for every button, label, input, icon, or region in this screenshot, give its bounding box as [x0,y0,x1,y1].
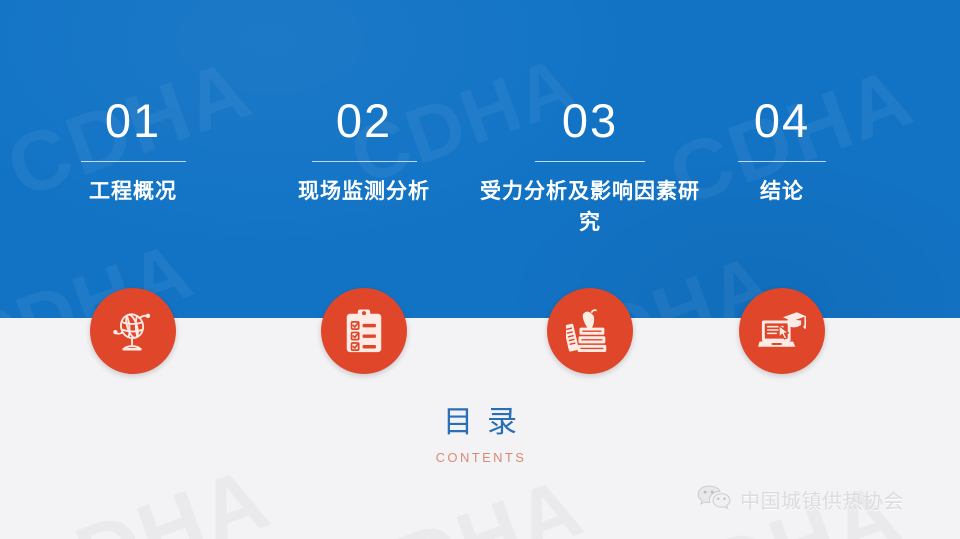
section-item-03[interactable]: 03 受力分析及影响因素研究 [480,95,700,238]
section-icon-circle-02[interactable] [321,288,407,374]
section-title: 受力分析及影响因素研究 [480,176,700,238]
section-item-04[interactable]: 04 结论 [706,95,858,207]
clipboard-checklist-icon [342,308,386,354]
footer-organization-name: 中国城镇供热协会 [740,488,904,514]
watermark-cdha-bottom-center: CDHA [327,458,596,539]
section-divider [81,161,186,162]
globe-stand-icon [110,308,156,354]
section-number: 04 [706,95,858,147]
section-icon-circle-03[interactable] [547,288,633,374]
section-item-02[interactable]: 02 现场监测分析 [278,95,450,207]
contents-block: 目录 CONTENTS [0,404,960,468]
contents-title-cn: 目录 [0,404,960,442]
section-item-01[interactable]: 01 工程概况 [48,95,218,207]
section-divider [738,161,826,162]
section-title: 结论 [706,176,858,207]
section-icon-circle-04[interactable] [739,288,825,374]
section-number: 01 [48,95,218,147]
section-number: 03 [480,95,700,147]
section-number: 02 [278,95,450,147]
footer-signature: 中国城镇供热协会 [697,484,904,517]
wechat-icon [697,484,731,517]
contents-title-en: CONTENTS [0,448,960,468]
section-icon-circle-01[interactable] [90,288,176,374]
slide-root: CDHA CDHA CDHA CDHA CDHA CDHA CDHA CDHA … [0,0,960,539]
section-columns: 01 工程概况 02 现场监测分析 03 受力分析及影响因素研究 04 结论 [0,0,960,318]
section-title: 工程概况 [48,176,218,207]
laptop-graduation-cap-icon [758,309,806,353]
section-divider [312,161,417,162]
section-divider [535,161,645,162]
section-title: 现场监测分析 [278,176,450,207]
books-apple-icon [566,309,614,353]
